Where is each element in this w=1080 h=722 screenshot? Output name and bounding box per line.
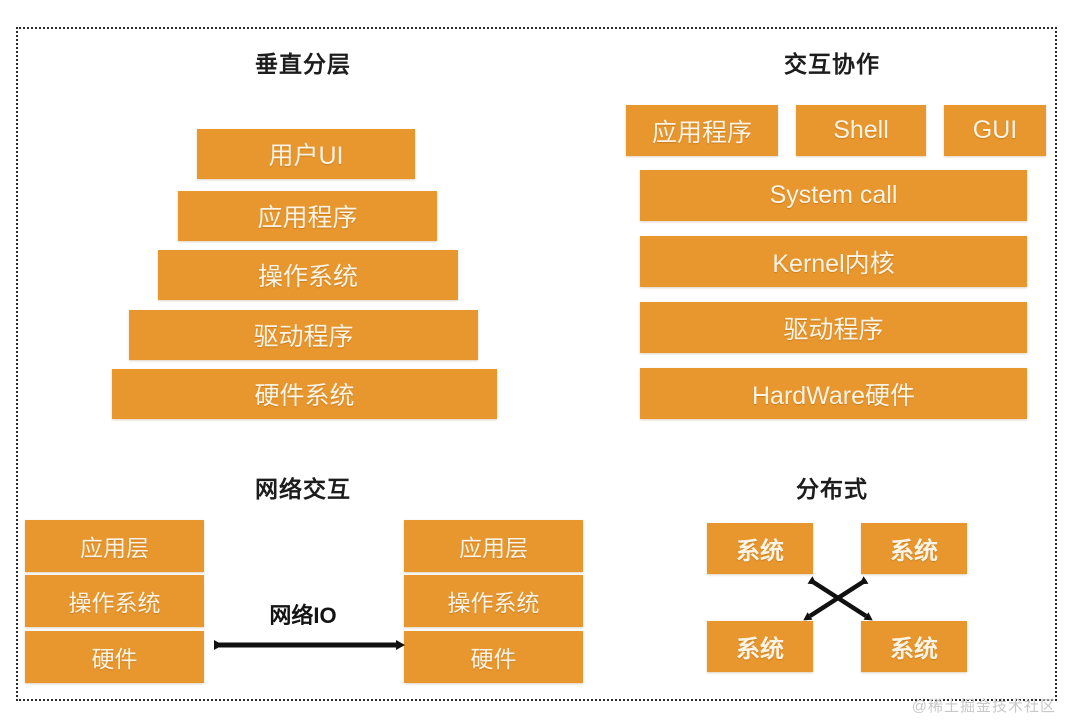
interaction-stack-system-call: System call: [640, 170, 1027, 221]
watermark: @稀土掘金技术社区: [912, 695, 1056, 716]
network-left-operating-system: 操作系统: [25, 575, 204, 627]
network-right-application-layer: 应用层: [404, 520, 583, 572]
distributed-node-bottom-left-label: 系统: [736, 629, 784, 664]
distributed-node-bottom-right-label: 系统: [890, 629, 938, 664]
pyramid-layer-1-label: 用户UI: [268, 136, 343, 172]
pyramid-layer-3-label: 操作系统: [258, 257, 358, 293]
network-left-hardware-label: 硬件: [92, 640, 138, 674]
panel-title-distributed: 分布式: [796, 470, 868, 504]
interaction-box-application: 应用程序: [626, 105, 778, 156]
pyramid-layer-2-label: 应用程序: [257, 198, 357, 234]
network-right-application-layer-label: 应用层: [459, 529, 528, 563]
panel-title-interaction: 交互协作: [784, 45, 880, 79]
interaction-box-shell-label: Shell: [833, 116, 889, 145]
interaction-box-application-label: 应用程序: [652, 113, 752, 149]
panel-title-vertical-layering: 垂直分层: [255, 45, 351, 79]
distributed-node-top-right: 系统: [861, 523, 967, 574]
pyramid-layer-5-label: 硬件系统: [254, 376, 354, 412]
pyramid-layer-2: 应用程序: [178, 191, 437, 241]
network-left-application-layer: 应用层: [25, 520, 204, 572]
network-left-operating-system-label: 操作系统: [69, 584, 161, 618]
pyramid-layer-4: 驱动程序: [129, 310, 478, 360]
pyramid-layer-3: 操作系统: [158, 250, 458, 300]
interaction-box-gui: GUI: [944, 105, 1046, 156]
diagram-canvas: 垂直分层 用户UI 应用程序 操作系统 驱动程序 硬件系统 交互协作 应用程序 …: [0, 0, 1080, 722]
interaction-box-shell: Shell: [796, 105, 926, 156]
network-right-hardware-label: 硬件: [471, 640, 517, 674]
network-left-hardware: 硬件: [25, 631, 204, 683]
network-right-operating-system-label: 操作系统: [448, 584, 540, 618]
interaction-stack-hardware: HardWare硬件: [640, 368, 1027, 419]
interaction-stack-kernel-label: Kernel内核: [772, 244, 894, 280]
network-io-label: 网络IO: [269, 598, 336, 630]
network-right-hardware: 硬件: [404, 631, 583, 683]
distributed-node-bottom-left: 系统: [707, 621, 813, 672]
interaction-stack-hardware-label: HardWare硬件: [752, 376, 915, 412]
pyramid-layer-1: 用户UI: [197, 129, 415, 179]
panel-title-network: 网络交互: [255, 470, 351, 504]
distributed-node-top-left: 系统: [707, 523, 813, 574]
interaction-stack-driver-label: 驱动程序: [783, 310, 883, 346]
distributed-node-top-left-label: 系统: [736, 531, 784, 566]
interaction-stack-driver: 驱动程序: [640, 302, 1027, 353]
distributed-node-top-right-label: 系统: [890, 531, 938, 566]
distributed-node-bottom-right: 系统: [861, 621, 967, 672]
interaction-stack-kernel: Kernel内核: [640, 236, 1027, 287]
network-left-application-layer-label: 应用层: [80, 529, 149, 563]
network-right-operating-system: 操作系统: [404, 575, 583, 627]
pyramid-layer-5: 硬件系统: [112, 369, 497, 419]
pyramid-layer-4-label: 驱动程序: [253, 317, 353, 353]
interaction-box-gui-label: GUI: [973, 116, 1017, 145]
interaction-stack-system-call-label: System call: [770, 181, 898, 210]
